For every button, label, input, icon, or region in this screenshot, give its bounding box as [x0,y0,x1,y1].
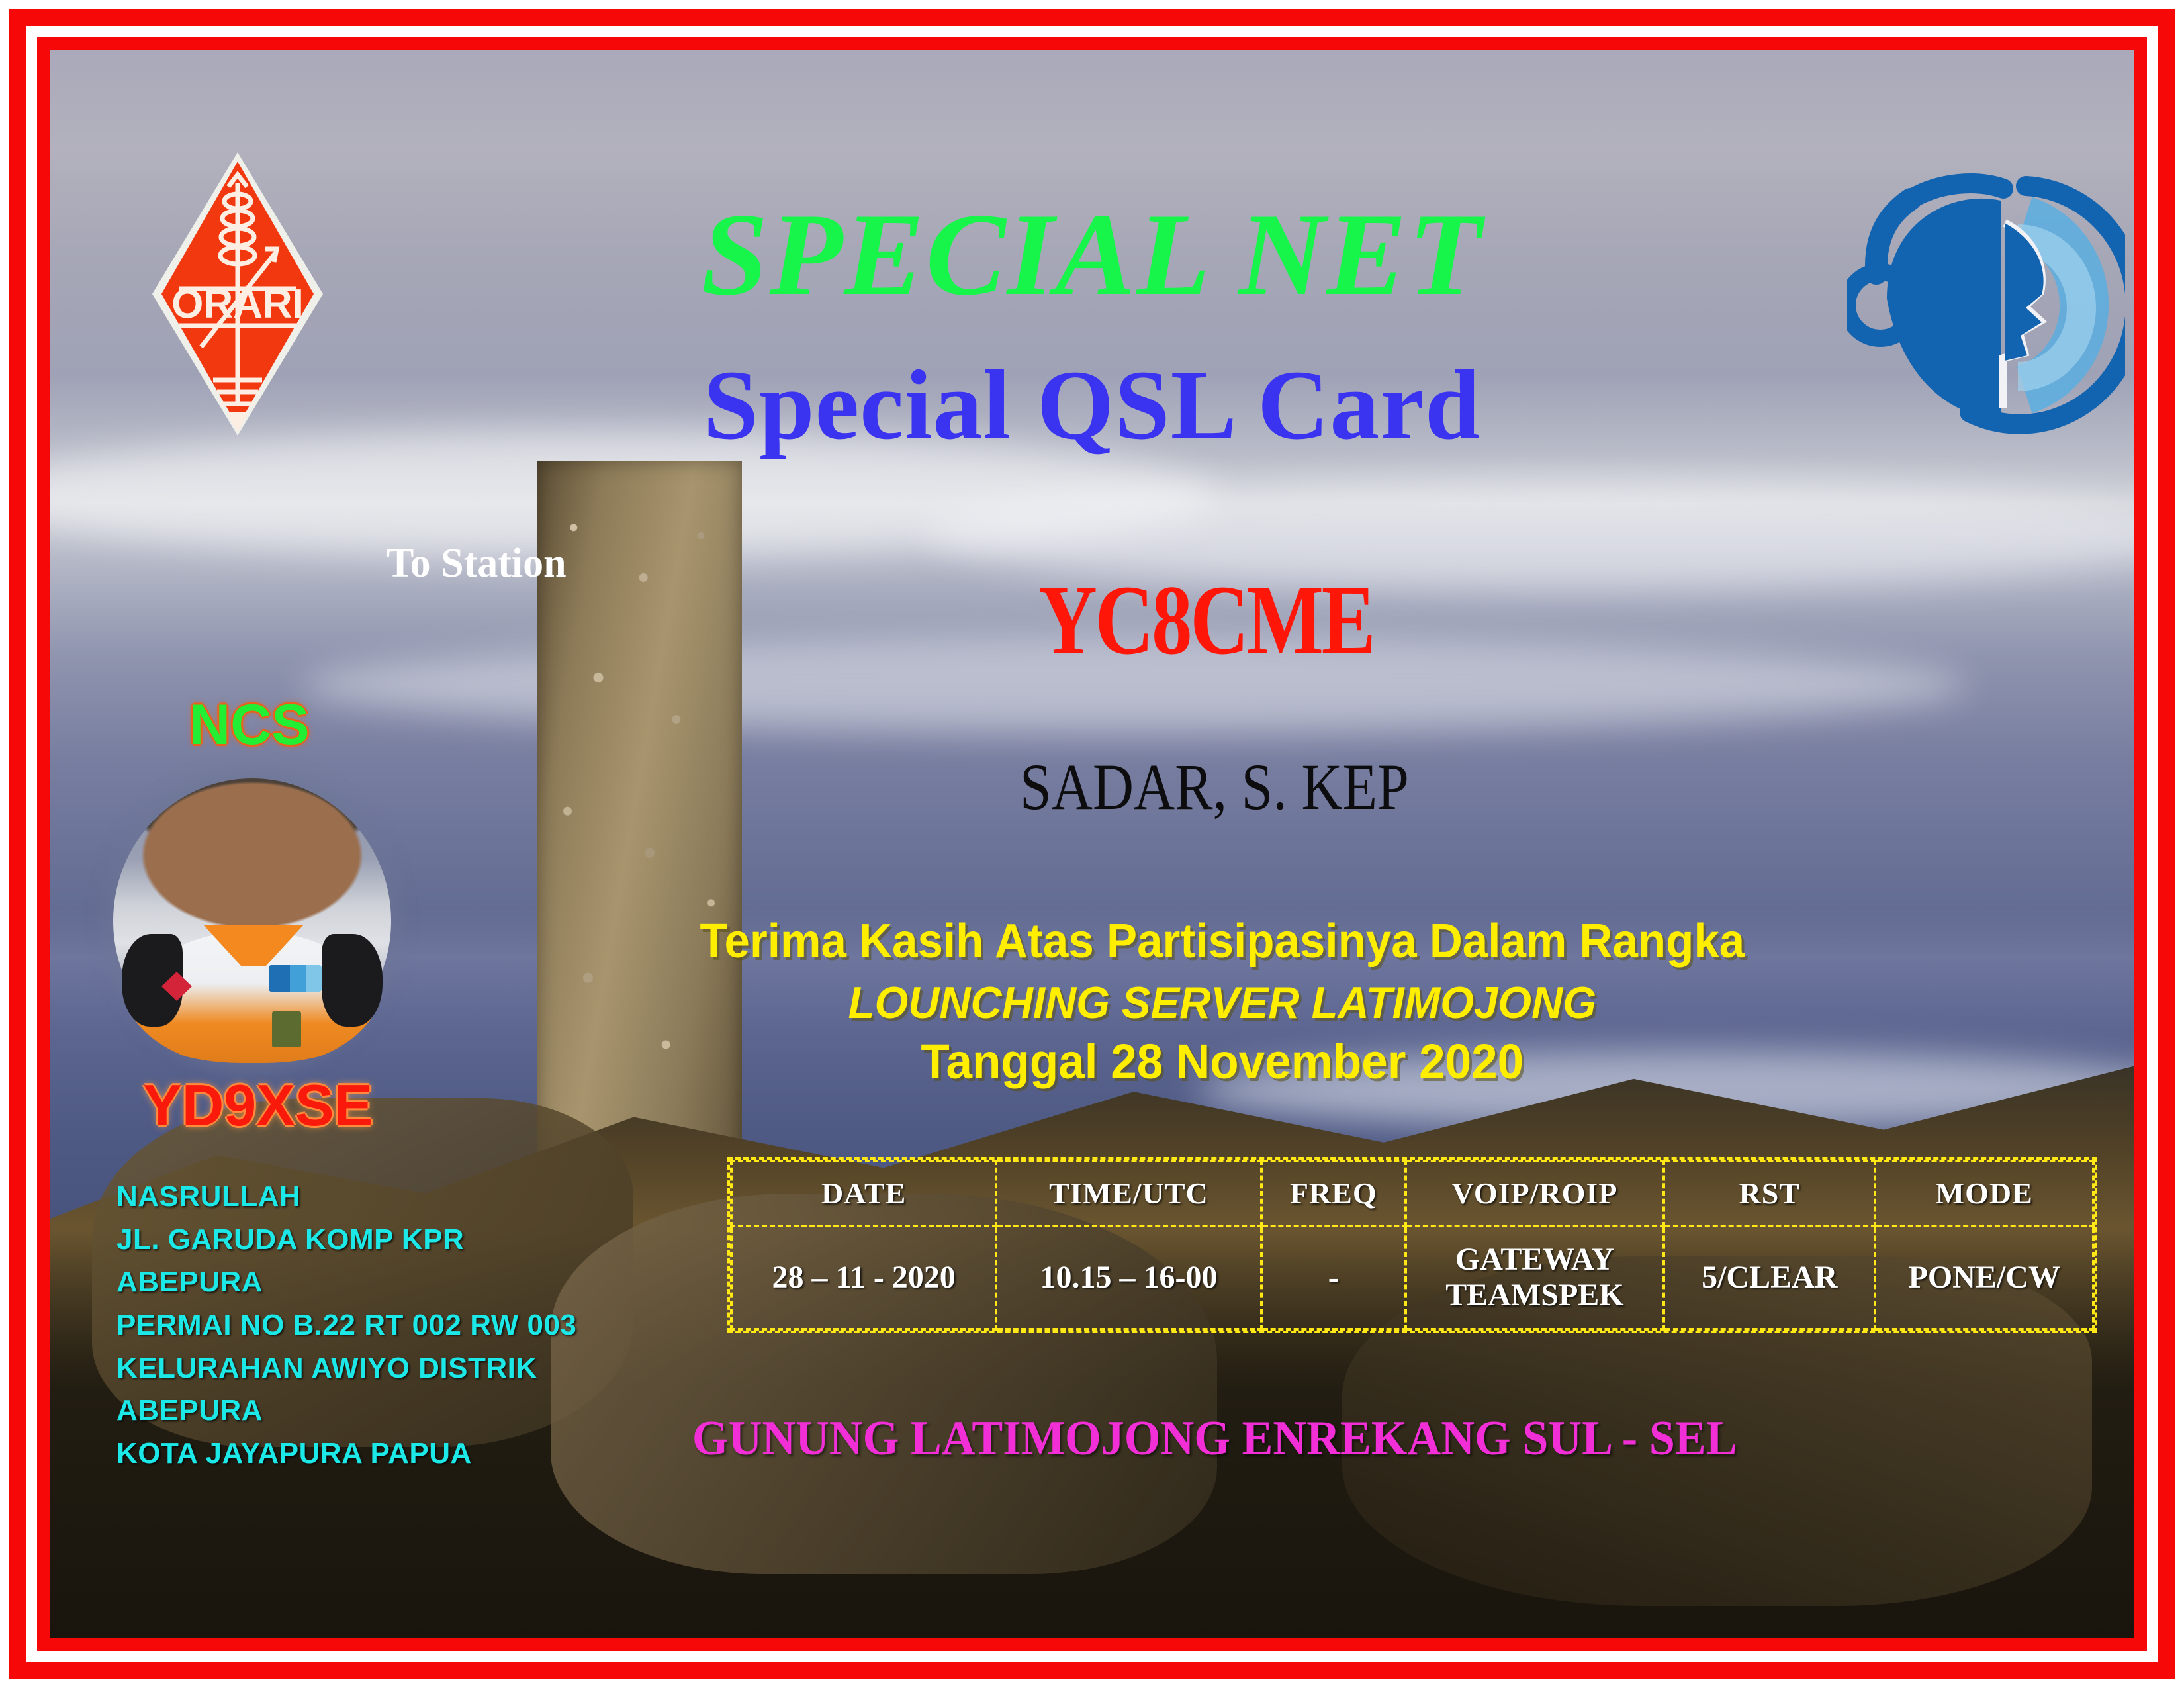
column-header-freq: FREQ [1261,1161,1406,1226]
footer-motto: "AMATIR RADIO ADALAH PROGRESIVE" [130,1634,999,1638]
cell-date: 28 – 11 - 2020 [731,1226,996,1329]
address-line: KELURAHAN AWIYO DISTRIK [116,1347,576,1390]
cell-voip: GATEWAY TEAMSPEK [1406,1226,1664,1329]
footer-address: Address : amatir.latimojong.com [1328,1634,1958,1638]
address-line: NASRULLAH [116,1176,576,1219]
column-header-voip: VOIP/ROIP [1406,1161,1664,1226]
cell-mode: PONE/CW [1875,1226,2093,1329]
ncs-label: NCS [189,692,310,758]
heading-special-net: SPECIAL NET [50,186,2134,322]
table-header-row: DATE TIME/UTC FREQ VOIP/ROIP RST MODE [731,1161,2093,1226]
cell-time: 10.15 – 16-00 [996,1226,1261,1329]
table-row: 28 – 11 - 2020 10.15 – 16-00 - GATEWAY T… [731,1226,2093,1329]
qsl-card: ORARI SPECIAL NET Special QSL Card To St… [0,0,2184,1688]
column-header-mode: MODE [1875,1161,2093,1226]
location-caption: GUNUNG LATIMOJONG ENREKANG SUL - SEL [225,1411,2134,1467]
background-photograph: ORARI SPECIAL NET Special QSL Card To St… [50,50,2134,1638]
column-header-date: DATE [731,1161,996,1226]
cell-rst: 5/CLEAR [1664,1226,1875,1329]
event-line-1: Terima Kasih Atas Partisipasinya Dalam R… [222,914,2134,968]
event-line-3: Tanggal 28 November 2020 [222,1033,2134,1090]
column-header-time: TIME/UTC [996,1161,1261,1226]
address-line: PERMAI NO B.22 RT 002 RW 003 [116,1304,576,1347]
qso-log-table: DATE TIME/UTC FREQ VOIP/ROIP RST MODE 28… [727,1157,2097,1333]
heading-special-qsl-card: Special QSL Card [50,348,2134,462]
column-header-rst: RST [1664,1161,1875,1226]
cell-freq: - [1261,1226,1406,1329]
cell-voip-line-2: TEAMSPEK [1445,1278,1623,1313]
station-callsign: YC8CME [352,563,2060,677]
address-line: JL. GARUDA KOMP KPR [116,1219,576,1262]
address-line: ABEPURA [116,1261,576,1304]
operator-name: SADAR, S. KEP [318,749,2110,825]
event-line-2: LOUNCHING SERVER LATIMOJONG [222,977,2134,1029]
cell-voip-line-1: GATEWAY [1455,1242,1614,1277]
